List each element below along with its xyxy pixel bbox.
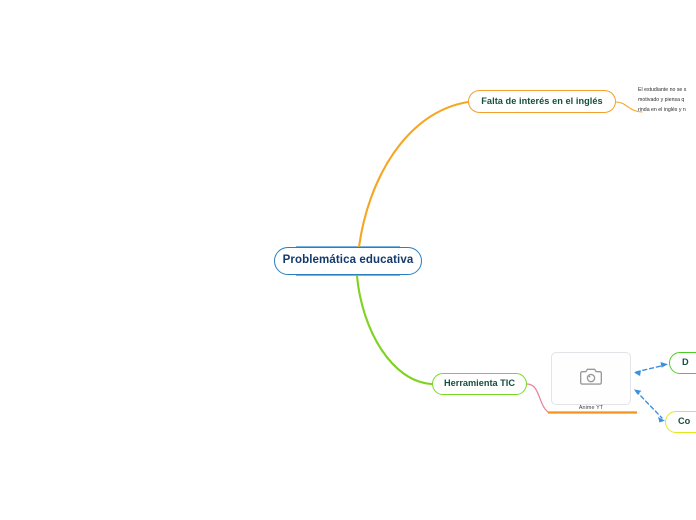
node-root[interactable]: Problemática educativa <box>274 247 422 275</box>
dashed-arrow-to-com <box>634 389 665 422</box>
image-caption: Anime YT <box>551 405 631 411</box>
image-placeholder-card[interactable] <box>551 352 631 405</box>
note-text-block: El estudiante no se s motivado y piensa … <box>638 85 696 115</box>
node-com-clipped[interactable]: Co <box>665 411 696 433</box>
camera-icon <box>580 367 602 391</box>
node-falta-de-interes-label: Falta de interés en el inglés <box>481 97 602 106</box>
note-line-3: rinda en el inglés y n <box>638 105 696 115</box>
node-root-label: Problemática educativa <box>283 255 414 267</box>
node-com-label: Co <box>678 417 690 426</box>
node-desarrollo-clipped[interactable]: D <box>669 352 696 374</box>
node-falta-de-interes[interactable]: Falta de interés en el inglés <box>468 90 616 113</box>
mindmap-canvas[interactable]: Problemática educativa Falta de interés … <box>0 0 696 520</box>
node-herramienta-tic[interactable]: Herramienta TIC <box>432 373 527 395</box>
note-line-2: motivado y piensa q <box>638 95 696 105</box>
node-desarrollo-label: D <box>682 358 689 367</box>
note-line-1: El estudiante no se s <box>638 85 696 95</box>
edge-root-to-falta <box>359 102 468 247</box>
node-herramienta-tic-label: Herramienta TIC <box>444 379 515 388</box>
edge-tic-to-image <box>527 384 548 412</box>
edge-root-to-tic <box>357 276 432 384</box>
dashed-arrow-to-desarrollo <box>634 362 668 376</box>
